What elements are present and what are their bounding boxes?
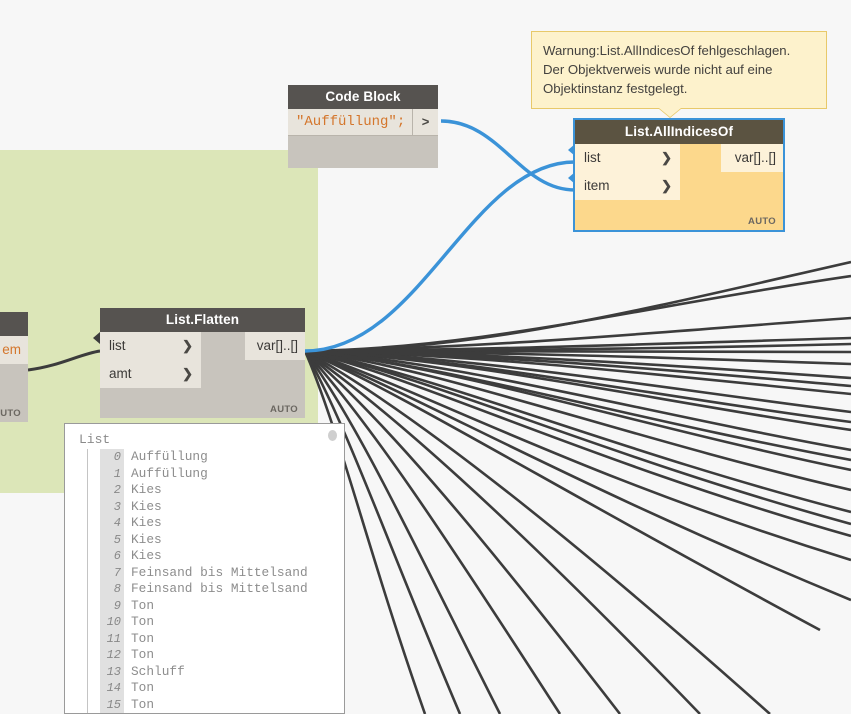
wire-flatten-to-list	[305, 162, 575, 351]
input-port-item-label: item	[584, 178, 610, 193]
list-item-index: 3	[100, 499, 124, 516]
chevron-right-icon[interactable]: ❯	[182, 332, 193, 360]
list-item-value: Kies	[124, 499, 162, 514]
list-preview-header: List	[65, 424, 344, 449]
input-port-list[interactable]: list ❯	[100, 332, 201, 360]
list-item-index: 15	[100, 697, 124, 714]
list-item-index: 7	[100, 565, 124, 582]
output-port-allindicesof[interactable]: var[]..[]	[721, 144, 783, 172]
list-item: 0Auffüllung	[100, 449, 344, 466]
list-item: 4Kies	[100, 515, 344, 532]
list-item-value: Ton	[124, 647, 154, 662]
code-block-code-text[interactable]: "Auffüllung";	[296, 109, 405, 135]
list-item-value: Ton	[124, 614, 154, 629]
warning-tooltip-tail	[659, 108, 681, 117]
list-item: 2Kies	[100, 482, 344, 499]
list-item-value: Auffüllung	[124, 449, 208, 464]
list-item: 1Auffüllung	[100, 466, 344, 483]
input-port-amt[interactable]: amt ❯	[100, 360, 201, 388]
list-item: 9Ton	[100, 598, 344, 615]
input-port-item[interactable]: item ❯	[575, 172, 680, 200]
execution-mode-label: AUTO	[748, 216, 776, 227]
code-block-output-port[interactable]: >	[412, 109, 438, 135]
list-item-index: 11	[100, 631, 124, 648]
wire-codeblock-to-item	[441, 121, 575, 190]
wire-bundle	[305, 262, 851, 714]
list-item-value: Feinsand bis Mittelsand	[124, 565, 308, 580]
list-item-value: Kies	[124, 548, 162, 563]
warning-line-2: Der Objektverweis wurde nicht auf eine	[543, 60, 815, 79]
list-item: 15Ton	[100, 697, 344, 714]
node-list-allindicesof-title: List.AllIndicesOf	[575, 120, 783, 144]
list-item-index: 4	[100, 515, 124, 532]
warning-line-3: Objektinstanz festgelegt.	[543, 79, 815, 98]
list-item-value: Feinsand bis Mittelsand	[124, 581, 308, 596]
list-item-value: Ton	[124, 598, 154, 613]
input-nub-icon[interactable]	[568, 144, 575, 156]
list-item-index: 10	[100, 614, 124, 631]
list-item-index: 6	[100, 548, 124, 565]
node-code-block-title: Code Block	[288, 85, 438, 109]
code-block-line[interactable]: "Auffüllung"; >	[288, 109, 438, 136]
list-item-value: Kies	[124, 515, 162, 530]
port-row-list[interactable]: list ❯ var[]..[]	[100, 332, 305, 360]
output-port-flatten[interactable]: var[]..[]	[245, 332, 305, 360]
list-item-index: 13	[100, 664, 124, 681]
list-item-index: 1	[100, 466, 124, 483]
list-item-index: 0	[100, 449, 124, 466]
pin-dot-icon[interactable]	[328, 430, 337, 441]
list-item-value: Schluff	[124, 664, 185, 679]
node-list-allindicesof[interactable]: List.AllIndicesOf list ❯ var[]..[] item …	[573, 118, 785, 232]
list-item: 6Kies	[100, 548, 344, 565]
list-item-value: Kies	[124, 532, 162, 547]
node-list-flatten-title: List.Flatten	[100, 308, 305, 332]
input-nub-icon[interactable]	[93, 332, 100, 344]
warning-line-1: Warnung:List.AllIndicesOf fehlgeschlagen…	[543, 41, 815, 60]
list-item: 7Feinsand bis Mittelsand	[100, 565, 344, 582]
list-item-index: 5	[100, 532, 124, 549]
list-preview-rows: 0Auffüllung1Auffüllung2Kies3Kies4Kies5Ki…	[87, 449, 344, 713]
port-row-item[interactable]: item ❯	[575, 172, 783, 200]
warning-tooltip: Warnung:List.AllIndicesOf fehlgeschlagen…	[531, 31, 827, 109]
list-item-index: 12	[100, 647, 124, 664]
dynamo-graph-canvas[interactable]: Warnung:List.AllIndicesOf fehlgeschlagen…	[0, 0, 851, 714]
chevron-right-icon[interactable]: ❯	[182, 360, 193, 388]
list-item: 8Feinsand bis Mittelsand	[100, 581, 344, 598]
list-item-value: Auffüllung	[124, 466, 208, 481]
node-offscreen-left[interactable]: em AUTO	[0, 312, 28, 422]
list-item-index: 14	[100, 680, 124, 697]
node-list-flatten[interactable]: List.Flatten list ❯ var[]..[] amt ❯ AUTO	[100, 308, 305, 418]
node-code-block[interactable]: Code Block "Auffüllung"; >	[288, 85, 438, 168]
execution-mode-label: AUTO	[0, 408, 21, 419]
chevron-right-icon[interactable]: ❯	[661, 172, 672, 200]
chevron-right-icon[interactable]: ❯	[661, 144, 672, 172]
input-nub-icon[interactable]	[568, 172, 575, 184]
list-item: 11Ton	[100, 631, 344, 648]
list-item: 5Kies	[100, 532, 344, 549]
input-port-amt-label: amt	[109, 366, 132, 381]
list-item-index: 9	[100, 598, 124, 615]
list-item-index: 8	[100, 581, 124, 598]
input-port-list[interactable]: list ❯	[575, 144, 680, 172]
list-item: 13Schluff	[100, 664, 344, 681]
list-item: 12Ton	[100, 647, 344, 664]
list-item: 3Kies	[100, 499, 344, 516]
list-item-value: Kies	[124, 482, 162, 497]
node-offscreen-left-title	[0, 312, 28, 336]
list-item: 14Ton	[100, 680, 344, 697]
list-item-value: Ton	[124, 697, 154, 712]
list-item-index: 2	[100, 482, 124, 499]
port-row-spacer	[0, 364, 28, 392]
output-port-offscreen[interactable]: em	[0, 336, 28, 364]
code-block-filler	[288, 136, 438, 168]
list-item-value: Ton	[124, 631, 154, 646]
input-port-list-label: list	[584, 150, 601, 165]
list-item: 10Ton	[100, 614, 344, 631]
list-preview-panel[interactable]: List 0Auffüllung1Auffüllung2Kies3Kies4Ki…	[64, 423, 345, 714]
port-row-offscreen-output[interactable]: em	[0, 336, 28, 364]
input-port-list-label: list	[109, 338, 126, 353]
list-item-value: Ton	[124, 680, 154, 695]
port-row-list[interactable]: list ❯ var[]..[]	[575, 144, 783, 172]
execution-mode-label: AUTO	[270, 404, 298, 415]
port-row-amt[interactable]: amt ❯	[100, 360, 305, 388]
